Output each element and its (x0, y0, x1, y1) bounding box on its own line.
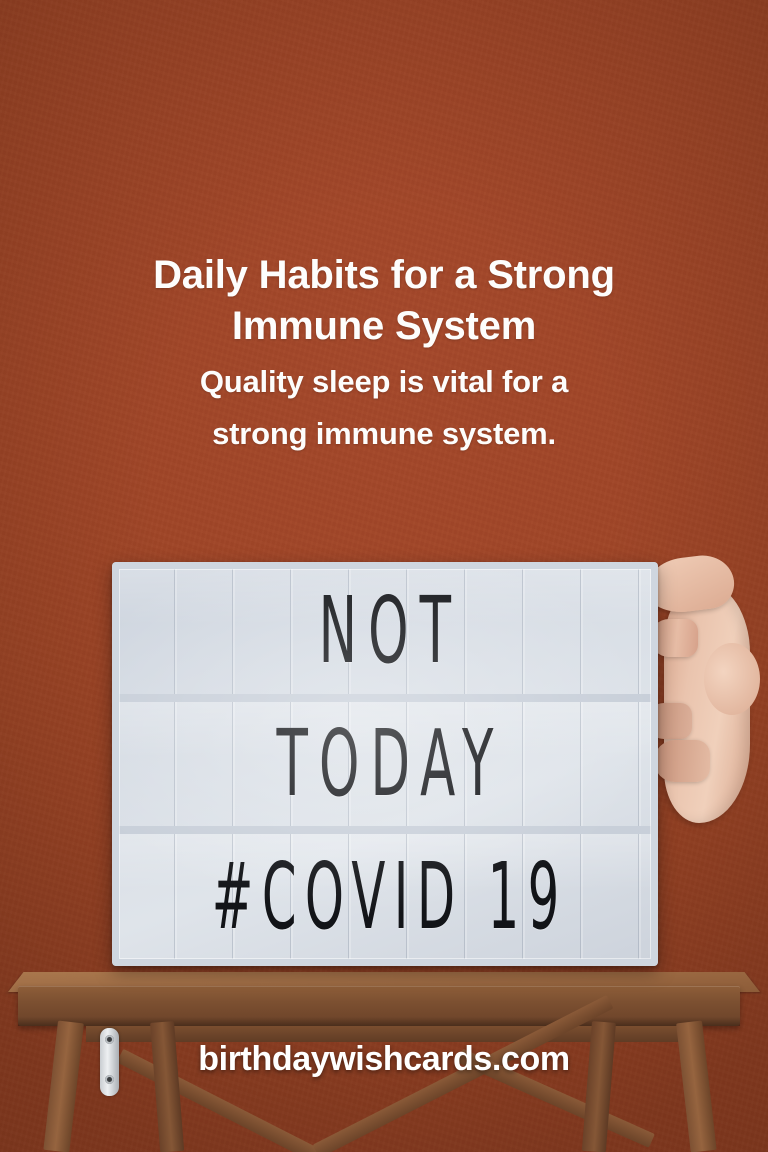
site-watermark: birthdaywishcards.com (0, 1040, 768, 1079)
lightbox-row-3-text: #COVID 19 (203, 851, 567, 943)
lightbox-row-1: NOT (119, 569, 651, 702)
lightbox-screen: NOT TODAY #COVID 19 (119, 569, 651, 959)
headline-line-1: Daily Habits for a Strong (52, 250, 716, 301)
headline-line-2: Immune System (52, 301, 716, 352)
hand-finger-ring (654, 740, 710, 782)
subhead-line-2: strong immune system. (52, 412, 716, 456)
text-overlay-block: Daily Habits for a Strong Immune System … (0, 250, 768, 456)
stool-tabletop-edge (18, 986, 740, 1026)
poster-canvas: Daily Habits for a Strong Immune System … (0, 0, 768, 1152)
lightbox-row-3: #COVID 19 (119, 834, 651, 959)
lightbox-row-2-text: TODAY (265, 718, 504, 810)
lightbox-row-1-text: NOT (308, 585, 463, 677)
hand-knuckle (704, 643, 760, 715)
subhead-line-1: Quality sleep is vital for a (52, 360, 716, 404)
lightbox-row-2: TODAY (119, 702, 651, 835)
lightbox-sign: NOT TODAY #COVID 19 (112, 562, 658, 966)
